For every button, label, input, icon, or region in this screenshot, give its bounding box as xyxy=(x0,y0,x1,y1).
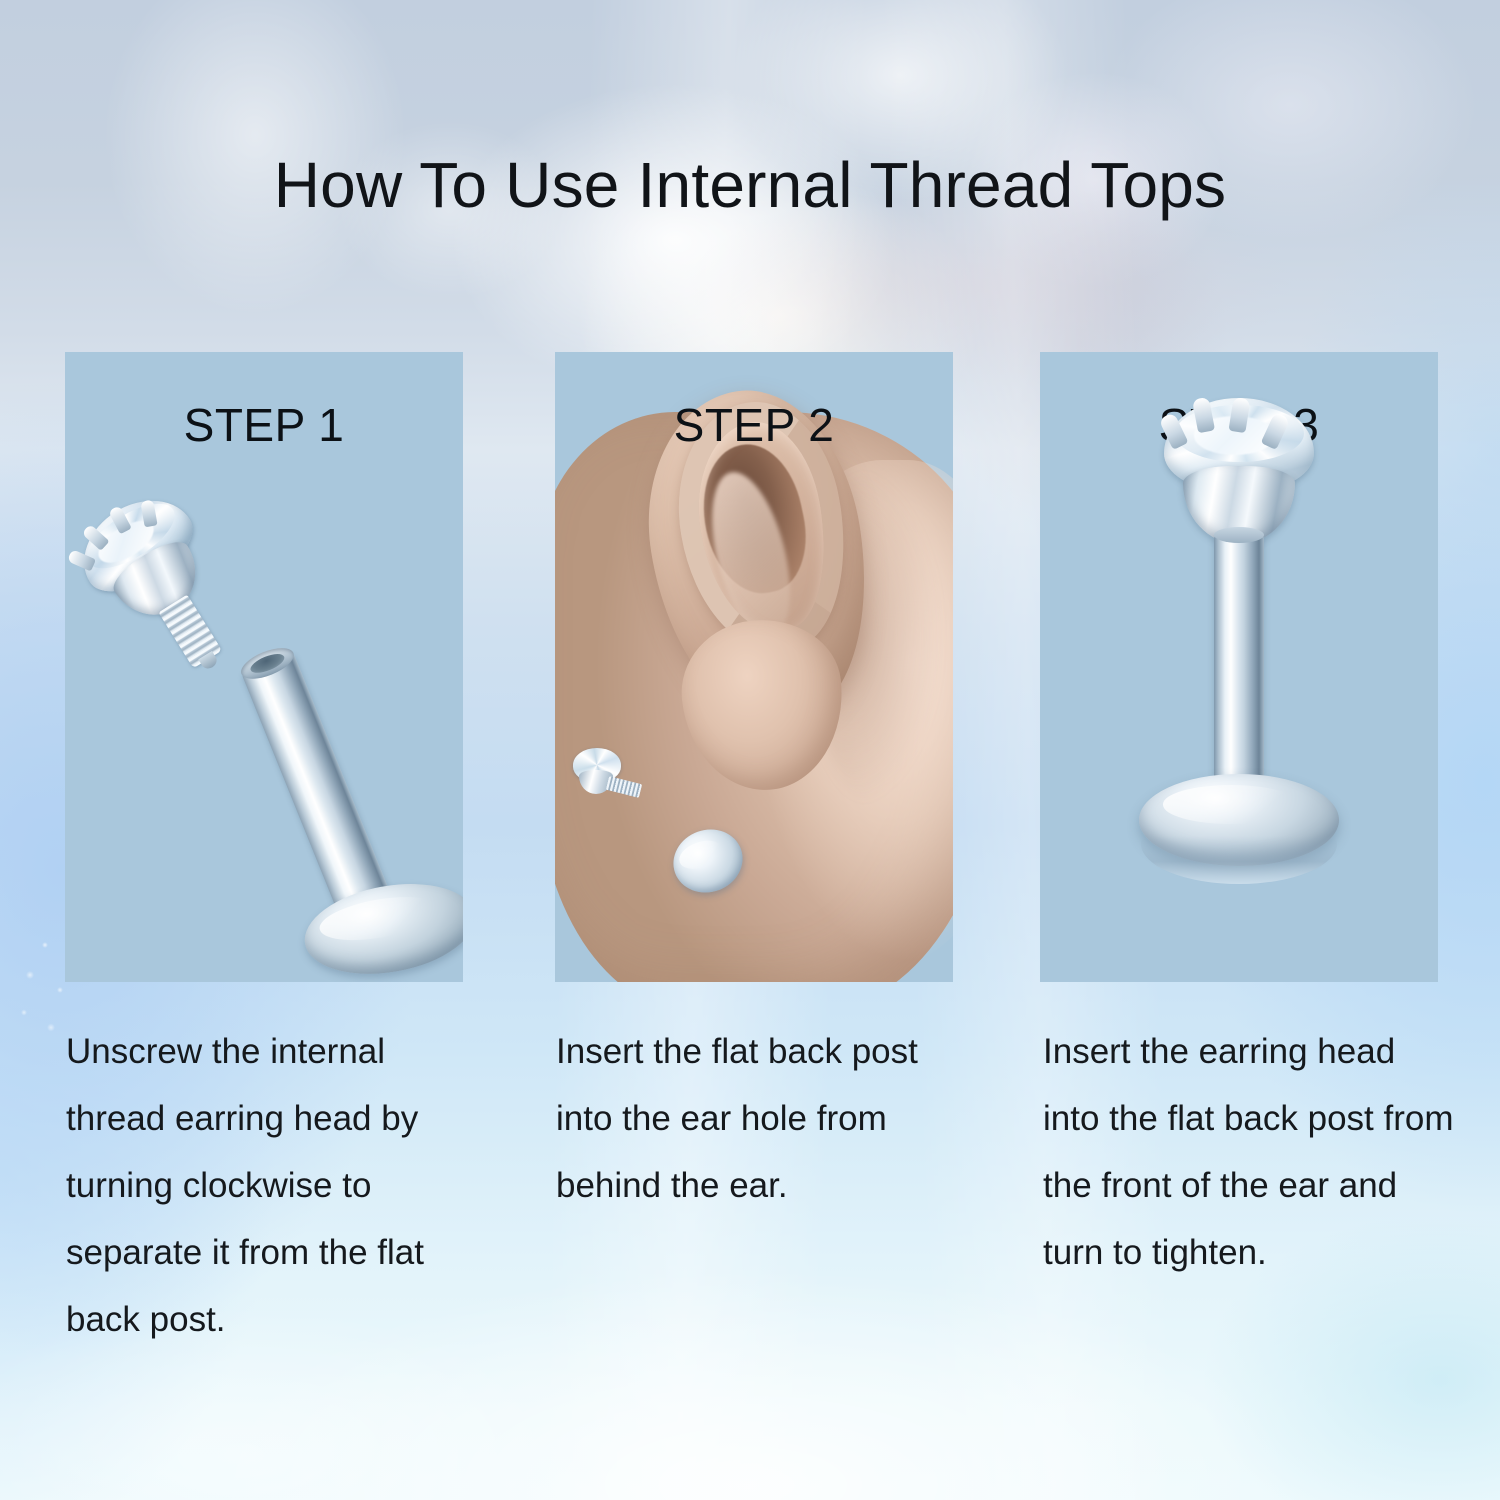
step-label-2: STEP 2 xyxy=(555,398,953,452)
step-3-illustration xyxy=(1040,352,1438,982)
disc-rim-icon xyxy=(1141,804,1337,884)
step-card-2: STEP 2 xyxy=(555,352,953,982)
step-caption-1: Unscrew the internal thread earring head… xyxy=(66,1018,486,1353)
screw-thread-icon xyxy=(606,776,642,798)
flat-disc-base-icon xyxy=(298,872,463,982)
post-tube-icon xyxy=(241,652,396,928)
step-caption-2: Insert the flat back post into the ear h… xyxy=(556,1018,966,1219)
step-card-3: STEP 3 xyxy=(1040,352,1438,982)
post-tube-icon xyxy=(1214,535,1264,805)
step-caption-3: Insert the earring head into the flat ba… xyxy=(1043,1018,1455,1286)
earring-head-icon xyxy=(573,748,639,800)
earring-head-icon xyxy=(65,477,240,656)
step-card-1: STEP 1 xyxy=(65,352,463,982)
page-title: How To Use Internal Thread Tops xyxy=(0,148,1500,222)
step-1-illustration xyxy=(65,352,463,982)
screw-thread-icon xyxy=(158,594,222,668)
earring-head-icon xyxy=(1163,398,1315,538)
flat-back-post-icon xyxy=(210,618,463,982)
